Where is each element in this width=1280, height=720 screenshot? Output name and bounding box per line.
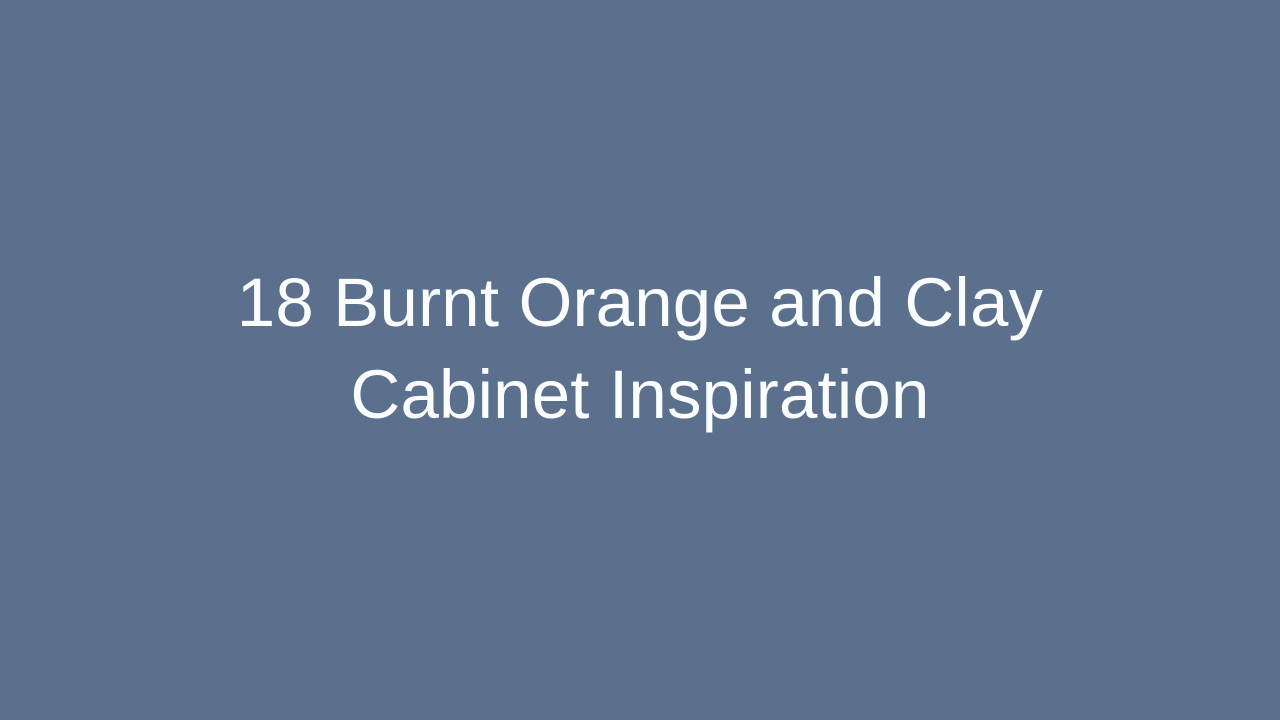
title-block: 18 Burnt Orange and Clay Cabinet Inspira… (110, 257, 1170, 441)
page-title: 18 Burnt Orange and Clay Cabinet Inspira… (130, 257, 1150, 441)
title-card: 18 Burnt Orange and Clay Cabinet Inspira… (0, 0, 1280, 720)
